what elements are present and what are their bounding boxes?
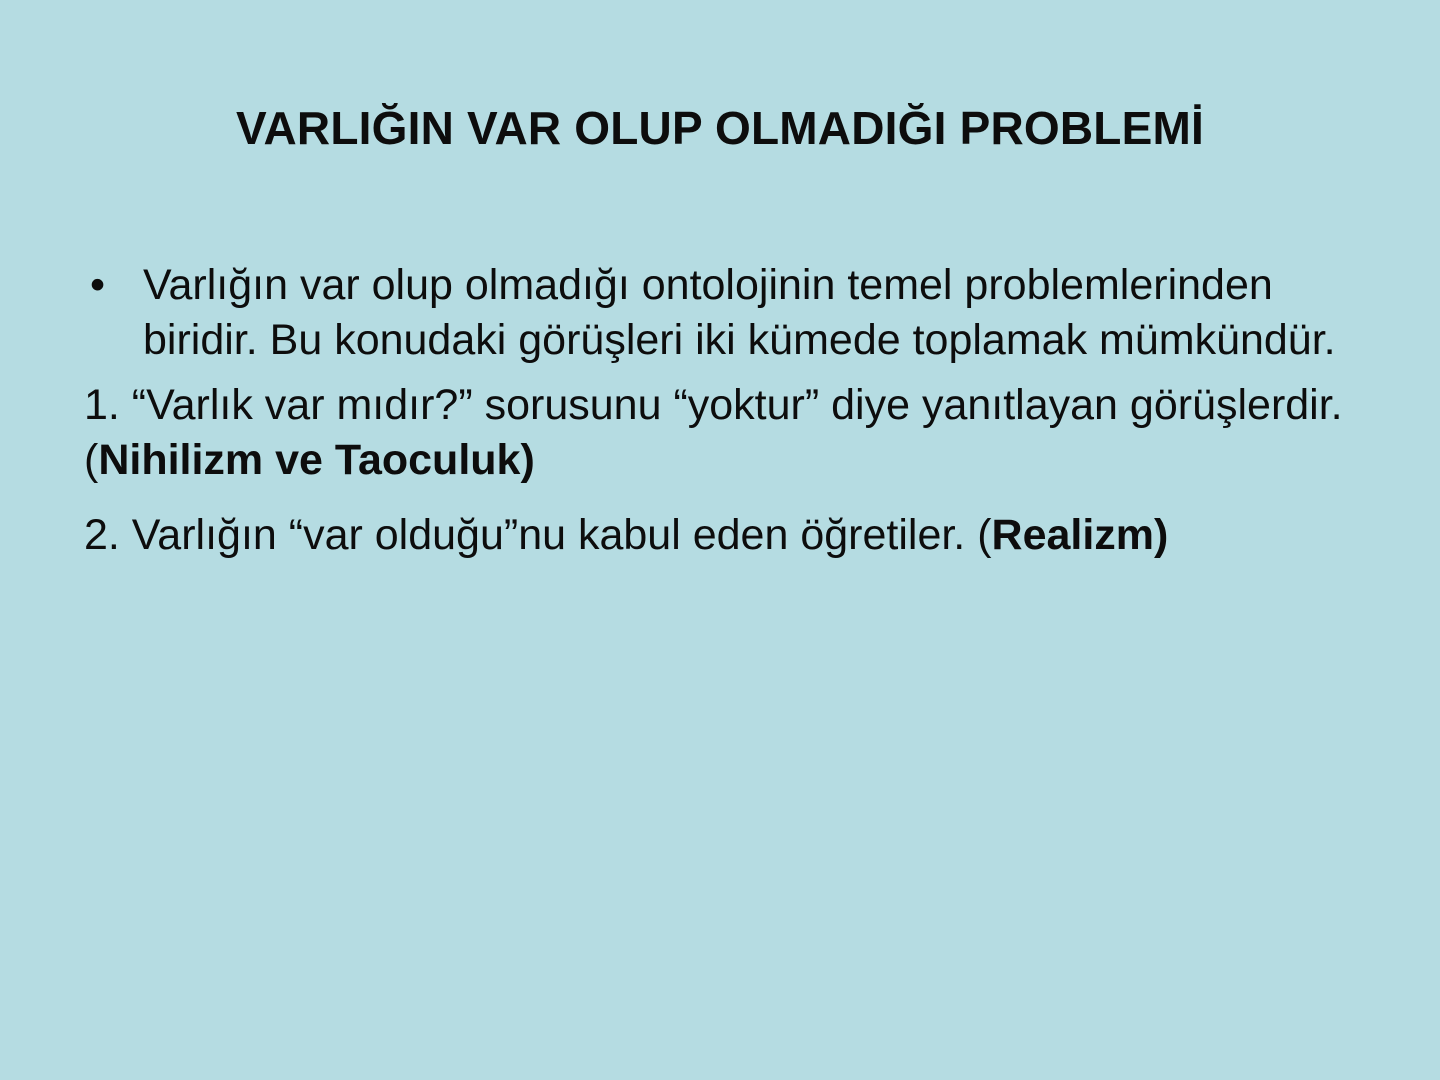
slide-body: • Varlığın var olup olmadığı ontolojinin…: [84, 258, 1374, 563]
numbered-item-1: 1. “Varlık var mıdır?” sorusunu “yoktur”…: [84, 378, 1374, 488]
bullet-item-text: Varlığın var olup olmadığı ontolojinin t…: [143, 261, 1336, 364]
bullet-point-icon: •: [90, 258, 110, 313]
numbered-item-2-text: 2. Varlığın “var olduğu”nu kabul eden öğ…: [84, 511, 992, 559]
numbered-item-1-emphasis: Nihilizm ve Taoculuk): [98, 436, 534, 484]
slide-title: VARLIĞIN VAR OLUP OLMADIĞI PROBLEMİ: [0, 103, 1440, 155]
bullet-list-item: • Varlığın var olup olmadığı ontolojinin…: [84, 258, 1374, 368]
presentation-slide: VARLIĞIN VAR OLUP OLMADIĞI PROBLEMİ • Va…: [0, 0, 1440, 1080]
numbered-item-2: 2. Varlığın “var olduğu”nu kabul eden öğ…: [84, 508, 1374, 563]
numbered-item-2-emphasis: Realizm): [992, 511, 1169, 559]
